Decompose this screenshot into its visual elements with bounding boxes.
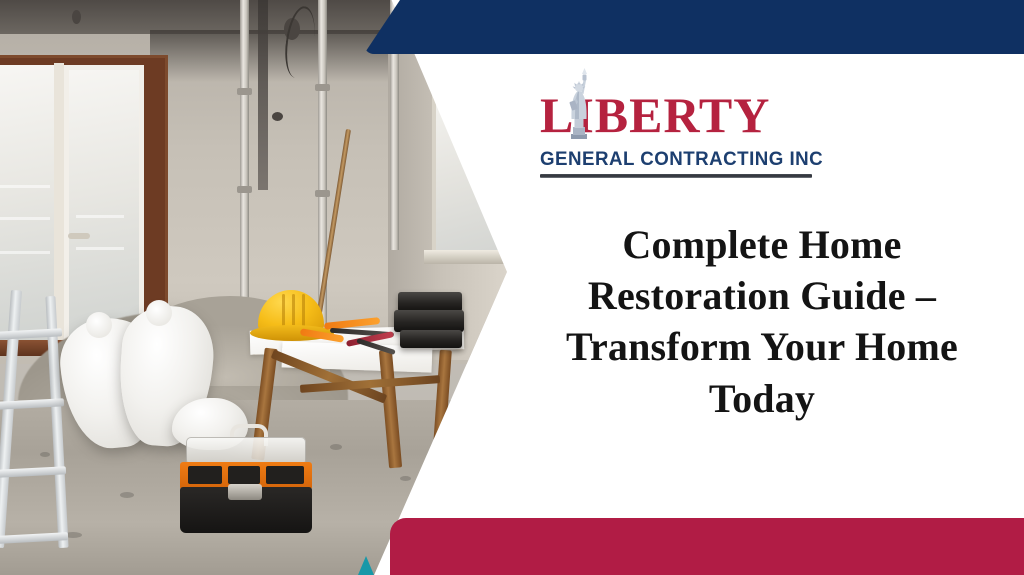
wall-soot-shadow <box>150 30 400 82</box>
statue-of-liberty-icon <box>562 68 596 148</box>
toolbox-compartment <box>266 466 304 484</box>
sack-knot <box>146 300 172 326</box>
photo-clip-shape <box>0 0 520 575</box>
wall-seam <box>258 0 268 190</box>
brand-logo[interactable]: LIBERTY <box>540 86 830 178</box>
logo-underline-rule <box>540 174 812 178</box>
headline-line: Restoration Guide – <box>506 270 1018 321</box>
door-glass-pane-right <box>64 65 144 345</box>
toolbox-latch <box>228 484 262 500</box>
hard-hat-rib <box>282 294 285 328</box>
conduit-clamp <box>237 88 252 95</box>
tool-case <box>394 310 464 332</box>
toolbox-clear-lid <box>186 437 306 463</box>
conduit-clamp <box>315 84 330 91</box>
promo-banner-slide: LIBERTY <box>0 0 1024 575</box>
home-renovation-interior-photo <box>0 0 520 575</box>
tool-case <box>400 330 462 348</box>
page-title: Complete Home Restoration Guide – Transf… <box>506 219 1018 424</box>
toolbox-compartment <box>228 466 260 484</box>
hard-hat-rib <box>302 294 305 328</box>
tool-case <box>398 292 462 312</box>
crimson-bottom-banner <box>390 518 1024 575</box>
balcony-door-frame <box>0 55 168 355</box>
logo-secondary-text: GENERAL CONTRACTING INC <box>540 148 818 171</box>
headline-line: Complete Home <box>506 219 1018 270</box>
wall-hole <box>272 112 283 121</box>
conduit-clamp <box>315 190 330 197</box>
trestle-leg <box>432 350 452 461</box>
content-panel: LIBERTY <box>500 54 1024 518</box>
wall-hole <box>72 10 81 24</box>
headline-line: Transform Your Home <box>506 321 1018 372</box>
conduit-clamp <box>237 186 252 193</box>
navy-top-banner <box>364 0 1024 54</box>
logo-wordmark: LIBERTY <box>540 86 830 146</box>
toolbox-compartment <box>188 466 222 484</box>
headline-line: Today <box>506 373 1018 424</box>
wall-conduit <box>240 0 249 300</box>
sack-knot <box>86 312 112 338</box>
hard-hat-rib <box>292 294 295 328</box>
door-handle <box>68 233 90 239</box>
